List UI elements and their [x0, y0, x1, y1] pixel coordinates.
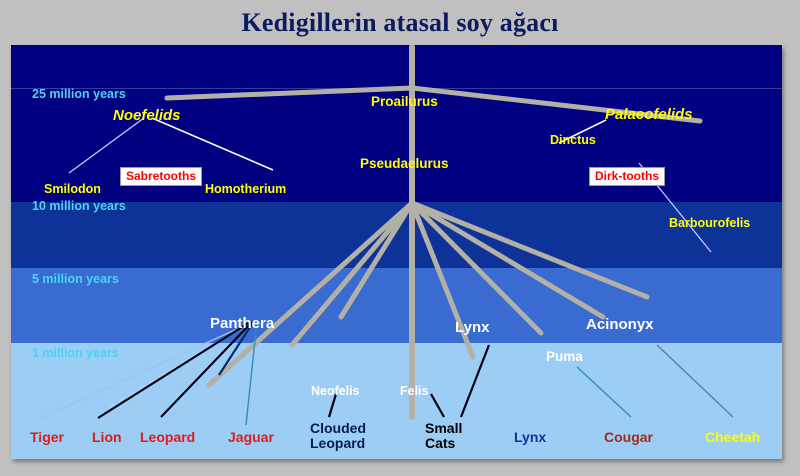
taxon-label-neofelis: Neofelis	[311, 385, 360, 398]
modern-species-label-lynx-8: Lynx	[514, 430, 546, 445]
modern-species-label-leopard-5: Leopard	[310, 436, 365, 451]
taxon-label-puma: Puma	[546, 350, 583, 364]
taxon-label-noefelids: Noefelids	[113, 108, 181, 124]
taxon-label-proailurus: Proailurus	[371, 95, 438, 109]
taxon-label-felis: Felis	[400, 385, 429, 398]
page-title: Kedigillerin atasal soy ağacı	[0, 0, 800, 45]
figure-root: Kedigillerin atasal soy ağacı	[0, 0, 800, 476]
taxon-label-dinctus: Dinctus	[550, 134, 596, 147]
taxon-label-pseudaelurus: Pseudaelurus	[360, 157, 449, 171]
era-label-10-million-years: 10 million years	[32, 200, 126, 213]
taxon-label-lynx: Lynx	[455, 320, 489, 336]
tooth-group-chip-dirk-tooths: Dirk-tooths	[589, 167, 665, 186]
modern-species-label-cougar-9: Cougar	[604, 430, 653, 445]
modern-species-label-leopard-2: Leopard	[140, 430, 195, 445]
taxon-label-smilodon: Smilodon	[44, 183, 101, 196]
modern-species-label-jaguar-3: Jaguar	[228, 430, 274, 445]
modern-species-label-cheetah-10: Cheetah	[705, 430, 760, 445]
era-label-25-million-years: 25 million years	[32, 88, 126, 101]
taxon-label-barbourofelis: Barbourofelis	[669, 217, 750, 230]
phylogeny-canvas: 25 million years10 million years5 millio…	[11, 45, 782, 459]
modern-species-label-lion-1: Lion	[92, 430, 122, 445]
taxon-label-panthera: Panthera	[210, 316, 274, 332]
modern-species-label-clouded-4: Clouded	[310, 421, 366, 436]
modern-species-label-small-6: Small	[425, 421, 462, 436]
modern-species-label-tiger-0: Tiger	[30, 430, 64, 445]
taxon-label-homotherium: Homotherium	[205, 183, 286, 196]
taxon-label-acinonyx: Acinonyx	[586, 317, 654, 333]
era-label-5-million-years: 5 million years	[32, 273, 119, 286]
taxon-label-palaeofelids: Palaeofelids	[605, 107, 693, 123]
tooth-group-chip-sabretooths: Sabretooths	[120, 167, 202, 186]
era-label-1-million-years: 1 million years	[32, 347, 119, 360]
modern-species-label-cats-7: Cats	[425, 436, 455, 451]
